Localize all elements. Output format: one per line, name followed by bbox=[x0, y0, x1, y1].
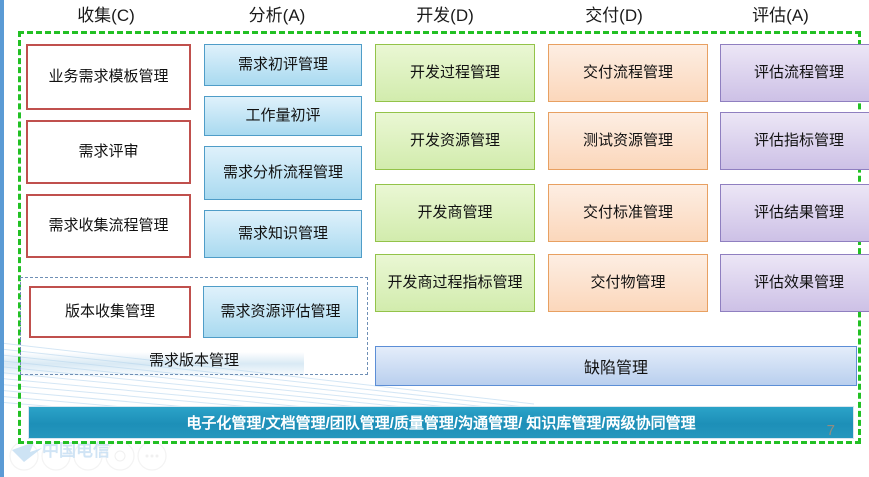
capability-box[interactable]: 交付标准管理 bbox=[548, 184, 708, 242]
capability-box[interactable]: 工作量初评 bbox=[204, 96, 362, 136]
capability-box[interactable]: 开发过程管理 bbox=[375, 44, 535, 102]
capability-box[interactable]: 评估指标管理 bbox=[720, 112, 869, 170]
capability-box[interactable]: 交付物管理 bbox=[548, 254, 708, 312]
column-header-evaluation: 评估(A) bbox=[698, 2, 863, 32]
column-header-delivery: 交付(D) bbox=[530, 2, 698, 32]
column-header-development: 开发(D) bbox=[360, 2, 530, 32]
page-number: 7 bbox=[827, 422, 835, 439]
version-group-label: 需求版本管理 bbox=[21, 349, 367, 370]
column-header-collect: 收集(C) bbox=[18, 2, 194, 32]
capability-box[interactable]: 评估效果管理 bbox=[720, 254, 869, 312]
capability-box[interactable]: 开发商管理 bbox=[375, 184, 535, 242]
column-delivery: 交付流程管理 测试资源管理 交付标准管理 交付物管理 bbox=[548, 44, 708, 322]
capability-box[interactable]: 评估结果管理 bbox=[720, 184, 869, 242]
column-collect: 业务需求模板管理 需求评审 需求收集流程管理 bbox=[26, 44, 191, 268]
capability-box[interactable]: 需求评审 bbox=[26, 120, 191, 184]
capability-box[interactable]: 评估流程管理 bbox=[720, 44, 869, 102]
capability-box[interactable]: 需求资源评估管理 bbox=[203, 286, 358, 338]
capability-box[interactable]: 版本收集管理 bbox=[29, 286, 191, 338]
capability-box[interactable]: 需求知识管理 bbox=[204, 210, 362, 258]
capability-box[interactable]: 需求初评管理 bbox=[204, 44, 362, 86]
footer-banner-label: 电子化管理/文档管理/团队管理/质量管理/沟通管理/ 知识库管理/两级协同管理 bbox=[186, 412, 695, 433]
capability-box[interactable]: 需求分析流程管理 bbox=[204, 146, 362, 200]
footer-banner: 电子化管理/文档管理/团队管理/质量管理/沟通管理/ 知识库管理/两级协同管理 bbox=[28, 406, 854, 439]
capability-box[interactable]: 业务需求模板管理 bbox=[26, 44, 191, 110]
column-headers: 收集(C) 分析(A) 开发(D) 交付(D) 评估(A) bbox=[18, 2, 863, 32]
capability-box[interactable]: 测试资源管理 bbox=[548, 112, 708, 170]
slide-canvas: 中国电信 收集(C) 分析(A) 开发(D) 交付(D) 评估(A) 业务需求模… bbox=[0, 0, 869, 477]
column-evaluation: 评估流程管理 评估指标管理 评估结果管理 评估效果管理 bbox=[720, 44, 869, 322]
column-analysis: 需求初评管理 工作量初评 需求分析流程管理 需求知识管理 bbox=[204, 44, 362, 268]
capability-box[interactable]: 开发资源管理 bbox=[375, 112, 535, 170]
version-management-group: 版本收集管理 需求资源评估管理 需求版本管理 bbox=[20, 277, 368, 375]
capability-box[interactable]: 需求收集流程管理 bbox=[26, 194, 191, 258]
capability-box[interactable]: 开发商过程指标管理 bbox=[375, 254, 535, 312]
defect-management-bar[interactable]: 缺陷管理 bbox=[375, 346, 857, 386]
column-header-analysis: 分析(A) bbox=[194, 2, 360, 32]
capability-box[interactable]: 交付流程管理 bbox=[548, 44, 708, 102]
column-development: 开发过程管理 开发资源管理 开发商管理 开发商过程指标管理 bbox=[375, 44, 535, 322]
